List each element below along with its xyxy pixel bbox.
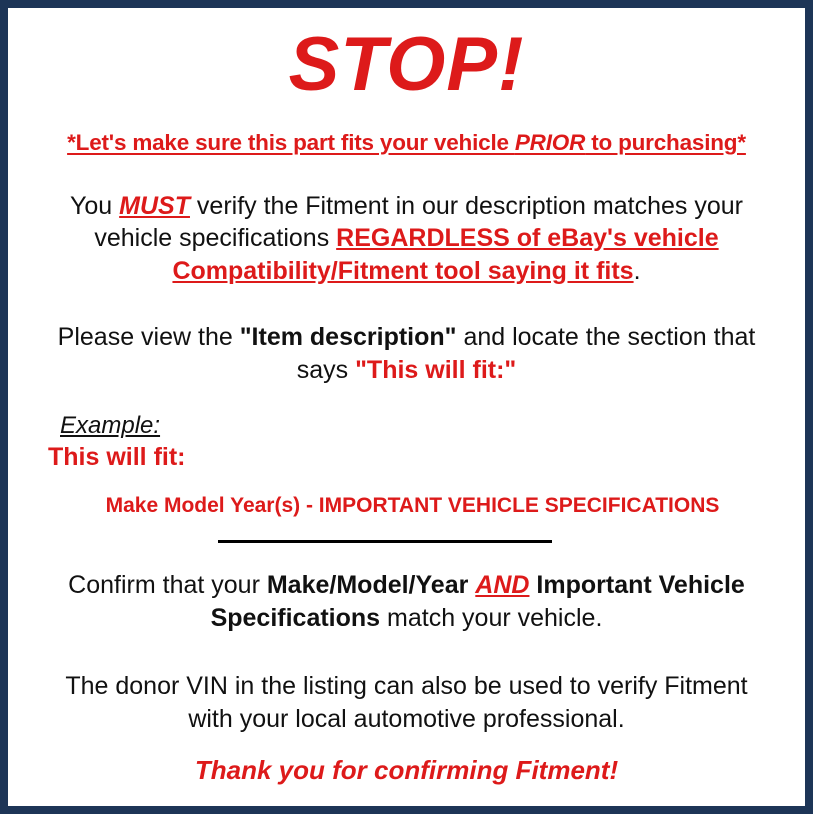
thanks-line: Thank you for confirming Fitment!: [30, 755, 783, 786]
must-seg3: .: [634, 257, 641, 285]
view-seg1: Please view the: [58, 323, 240, 351]
vin-paragraph: The donor VIN in the listing can also be…: [30, 670, 783, 735]
item-description-emphasis: "Item description": [240, 323, 457, 351]
divider-wrap: [30, 540, 783, 543]
subheadline: *Let's make sure this part fits your veh…: [30, 130, 783, 156]
must-seg1: You: [70, 192, 119, 220]
confirm-seg1: Confirm that your: [68, 571, 267, 599]
example-fit-line: This will fit:: [48, 443, 783, 472]
fitment-notice-card: STOP! *Let's make sure this part fits yo…: [0, 0, 813, 814]
section-divider: [218, 540, 552, 543]
make-model-year-emphasis: Make/Model/Year: [267, 571, 468, 599]
this-will-fit-emphasis: "This will fit:": [355, 356, 516, 384]
example-label: Example:: [60, 412, 160, 440]
subheadline-emphasis: PRIOR: [515, 130, 585, 155]
example-spec-line: Make Model Year(s) - IMPORTANT VEHICLE S…: [48, 494, 783, 518]
subheadline-before: *Let's make sure this part fits your veh…: [67, 130, 515, 155]
and-emphasis: AND: [475, 571, 529, 599]
example-block: Example: This will fit: Make Model Year(…: [30, 412, 783, 518]
must-verify-paragraph: You MUST verify the Fitment in our descr…: [30, 190, 783, 288]
confirm-paragraph: Confirm that your Make/Model/Year AND Im…: [30, 569, 783, 634]
stop-title: STOP!: [30, 26, 783, 104]
example-label-row: Example:: [48, 412, 783, 440]
confirm-seg2: match your vehicle.: [380, 604, 602, 632]
view-description-paragraph: Please view the "Item description" and l…: [30, 321, 783, 386]
subheadline-after: to purchasing*: [585, 130, 746, 155]
must-emphasis: MUST: [119, 192, 190, 220]
